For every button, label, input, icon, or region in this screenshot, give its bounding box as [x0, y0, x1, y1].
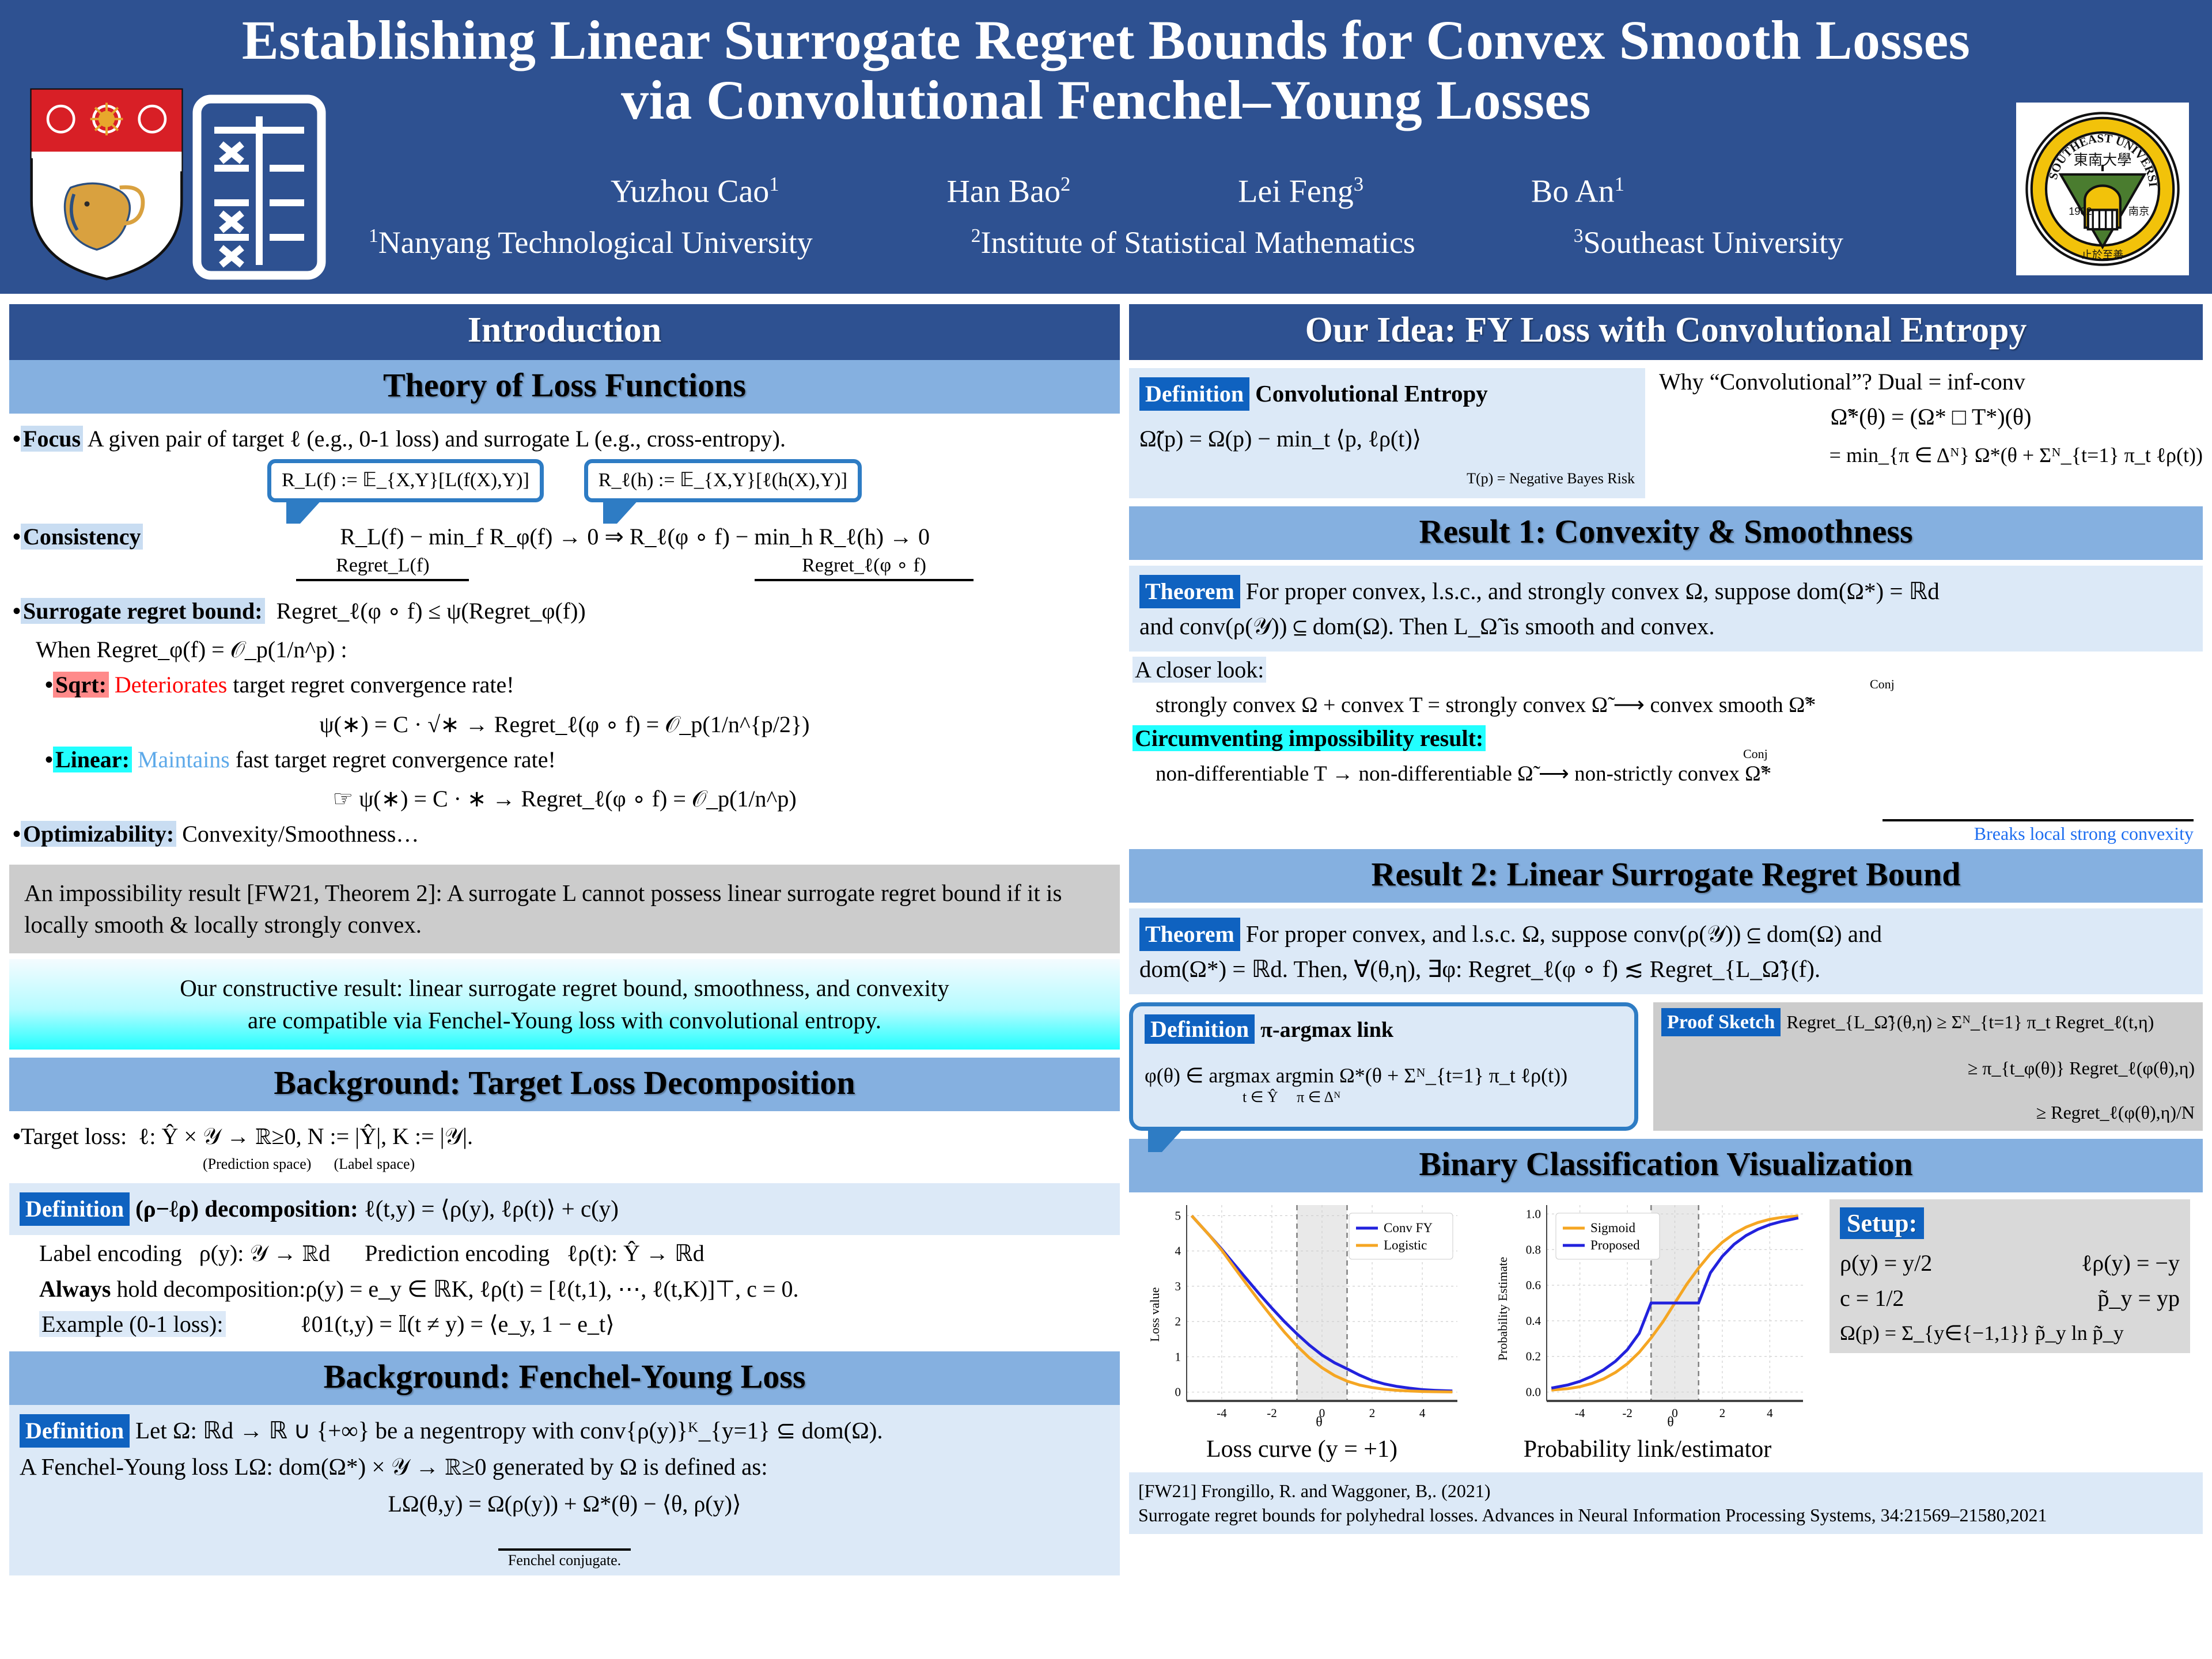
- definition-tag: Definition: [20, 1192, 130, 1226]
- setup-tag: Setup:: [1840, 1207, 1924, 1239]
- convolutional-entropy-definition-box: DefinitionConvolutional Entropy Ω̃(p) = …: [1129, 368, 1645, 498]
- example-row: Example (0-1 loss): ℓ01(t,y) = 𝕀(t ≠ y) …: [39, 1309, 1116, 1340]
- why-convolutional-label: Why “Convolutional”? Dual = inf-conv: [1659, 368, 2203, 395]
- setup-row-1: ρ(y) = y/2 ℓρ(y) = −y: [1840, 1249, 2180, 1277]
- decomposition-title: (ρ−ℓρ) decomposition:: [135, 1195, 358, 1222]
- argmax-sub-pi: π ∈ Δᴺ: [1297, 1089, 1340, 1105]
- linear-equation: ☞ ψ(∗) = C · ∗ → Regret_ℓ(φ ∘ f) = 𝒪_p(1…: [13, 784, 1116, 815]
- setup-py: p̃_y = yp: [2097, 1285, 2180, 1312]
- closer-look-label: A closer look:: [1132, 657, 1266, 683]
- author-3: Lei Feng3: [1238, 173, 1363, 210]
- section-heading-binary-classification-visualization: Binary Classification Visualization: [1129, 1139, 2203, 1192]
- ntu-logo: [23, 86, 190, 282]
- southeast-university-logo: SOUTHEAST UNIVERSITY 1902 南京 東南大學 止於至善: [2016, 103, 2189, 275]
- reference-line-1: [FW21] Frongillo, R. and Waggoner, B,. (…: [1138, 1479, 2194, 1503]
- theorem-1-line-1: For proper convex, l.s.c., and strongly …: [1246, 578, 1940, 604]
- affiliation-1: 1Nanyang Technological University: [369, 225, 813, 260]
- closer-look-equation: Conj strongly convex Ω + convex T = stro…: [1156, 691, 2199, 719]
- affiliation-2: 2Institute of Statistical Mathematics: [971, 225, 1415, 260]
- when-line: When Regret_φ(f) = 𝒪_p(1/n^p) :: [36, 635, 1116, 665]
- svg-text:1: 1: [1175, 1350, 1181, 1363]
- section-heading-introduction: Introduction: [9, 304, 1120, 360]
- chart-loss-curve: -4-2024012345 Conv FYLogistic Loss value…: [1129, 1199, 1475, 1463]
- svg-text:4: 4: [1175, 1244, 1181, 1258]
- poster-root: Establishing Linear Surrogate Regret Bou…: [0, 0, 2212, 1659]
- prediction-space-note: (Prediction space): [203, 1156, 311, 1172]
- poster-header: Establishing Linear Surrogate Regret Bou…: [0, 0, 2212, 294]
- theorem-2-line-2: dom(Ω*) = ℝd. Then, ∀(θ,η), ∃φ: Regret_ℓ…: [1139, 953, 2192, 985]
- surrogate-regret-bound-bullet: Surrogate regret bound: Regret_ℓ(φ ∘ f) …: [13, 596, 1116, 627]
- constructive-line-2: are compatible via Fenchel-Young loss wi…: [24, 1004, 1105, 1037]
- subsection-heading-target-loss-decomposition: Background: Target Loss Decomposition: [9, 1058, 1120, 1111]
- svg-text:Sigmoid: Sigmoid: [1590, 1221, 1635, 1235]
- constructive-line-1: Our constructive result: linear surrogat…: [24, 972, 1105, 1005]
- seu-cn-name: 東南大學: [2074, 152, 2132, 168]
- optimizability-bullet: Optimizability: Convexity/Smoothness…: [13, 819, 1116, 850]
- subsection-heading-fenchel-young-loss: Background: Fenchel-Young Loss: [9, 1351, 1120, 1405]
- label-encoding-eq: ρ(y): 𝒴 → ℝd: [199, 1240, 330, 1266]
- target-loss-bullet: Target loss: ℓ: Ŷ × 𝒴 → ℝ≥0, N := |Ŷ|, K…: [13, 1122, 1116, 1152]
- svg-text:Logistic: Logistic: [1384, 1238, 1427, 1252]
- svg-text:0: 0: [1175, 1385, 1181, 1399]
- svg-text:0.2: 0.2: [1526, 1350, 1541, 1363]
- title-line-2: via Convolutional Fenchel–Young Losses: [69, 70, 2143, 130]
- consistency-brace-2: Regret_ℓ(φ ∘ f): [755, 553, 974, 581]
- consistency-row: Consistency R_L(f) − min_f R_φ(f) → 0 ⇒ …: [13, 522, 1116, 582]
- always-row: Always hold decomposition:ρ(y) = e_y ∈ ℝ…: [39, 1274, 1116, 1305]
- always-equation: ρ(y) = e_y ∈ ℝK, ℓρ(t) = [ℓ(t,1), ⋯, ℓ(t…: [305, 1276, 798, 1302]
- chart-1-caption: Loss curve (y = +1): [1129, 1435, 1475, 1463]
- fenchel-young-definition-box: DefinitionLet Ω: ℝd → ℝ ∪ {+∞} be a nege…: [9, 1405, 1120, 1575]
- page-title: Establishing Linear Surrogate Regret Bou…: [69, 10, 2143, 130]
- svg-text:Proposed: Proposed: [1590, 1238, 1640, 1252]
- author-list: Yuzhou Cao1 Han Bao2 Lei Feng3 Bo An1: [611, 173, 1624, 210]
- subsection-heading-theory-of-loss-functions: Theory of Loss Functions: [9, 360, 1120, 414]
- affiliation-3: 3Southeast University: [1574, 225, 1843, 260]
- svg-text:0.4: 0.4: [1526, 1314, 1541, 1328]
- seu-city: 南京: [2128, 206, 2149, 217]
- consistency-brace-1: Regret_L(f): [296, 553, 469, 581]
- dual-equation-1: Ω̃*(θ) = (Ω* □ T*)(θ): [1659, 403, 2203, 430]
- definition-tag-conv: Definition: [1139, 377, 1249, 411]
- proof-sketch-box: Proof SketchRegret_{L_Ω̃}(θ,η) ≥ Σᴺ_{t=1…: [1653, 1002, 2203, 1131]
- label-encoding-label: Label encoding: [39, 1240, 182, 1266]
- example-tag: Example (0-1 loss):: [39, 1311, 226, 1337]
- svg-text:-2: -2: [1267, 1406, 1277, 1420]
- svg-text:2: 2: [1175, 1315, 1181, 1328]
- idea-row: DefinitionConvolutional Entropy Ω̃(p) = …: [1129, 368, 2203, 498]
- proof-line-2: ≥ π_{t_φ(θ)} Regret_ℓ(φ(θ),η): [1661, 1056, 2195, 1081]
- consistency-bullet: Consistency: [13, 522, 143, 552]
- fy-def-line-2: A Fenchel-Young loss LΩ: dom(Ω*) × 𝒴 → ℝ…: [20, 1451, 1109, 1483]
- svg-text:2: 2: [1369, 1406, 1376, 1420]
- proof-line-1: Regret_{L_Ω̃}(θ,η) ≥ Σᴺ_{t=1} π_t Regret…: [1786, 1012, 2154, 1032]
- svg-text:-4: -4: [1217, 1406, 1227, 1420]
- risk-callout-surrogate: R_L(f) := 𝔼_{X,Y}[L(f(X),Y)]: [267, 459, 544, 502]
- theorem-1-box: TheoremFor proper convex, l.s.c., and st…: [1129, 566, 2203, 652]
- svg-text:4: 4: [1767, 1406, 1773, 1420]
- setup-omega: Ω(p) = Σ_{y∈{−1,1}} p̃_y ln p̃_y: [1840, 1321, 2180, 1345]
- argmax-link-definition-box: Definitionπ-argmax link φ(θ) ∈ argmax ar…: [1129, 1002, 1638, 1131]
- theorem-tag-2: Theorem: [1139, 918, 1240, 951]
- affiliation-list: 1Nanyang Technological University 2Insti…: [369, 225, 1843, 260]
- section-heading-result-1: Result 1: Convexity & Smoothness: [1129, 506, 2203, 560]
- result2-detail-row: Definitionπ-argmax link φ(θ) ∈ argmax ar…: [1129, 1002, 2203, 1131]
- theorem-tag-1: Theorem: [1139, 575, 1240, 608]
- theorem-2-line-1: For proper convex, and l.s.c. Ω, suppose…: [1246, 921, 1882, 947]
- chart-2-caption: Probability link/estimator: [1475, 1435, 1820, 1463]
- example-equation: ℓ01(t,y) = 𝕀(t ≠ y) = ⟨e_y, 1 − e_t⟩: [301, 1311, 615, 1337]
- fy-equation: LΩ(θ,y) = Ω(ρ(y)) + Ω*(θ) − ⟨θ, ρ(y)⟩: [20, 1488, 1109, 1520]
- consistency-equation: R_L(f) − min_f R_φ(f) → 0 ⇒ R_ℓ(φ ∘ f) −…: [153, 522, 1116, 552]
- conj-arrow-label-2: Conj: [1743, 745, 1768, 762]
- title-line-1: Establishing Linear Surrogate Regret Bou…: [69, 10, 2143, 70]
- section-heading-result-2: Result 2: Linear Surrogate Regret Bound: [1129, 849, 2203, 903]
- impossibility-result-box: An impossibility result [FW21, Theorem 2…: [9, 865, 1120, 953]
- left-column: Introduction Theory of Loss Functions Fo…: [9, 304, 1120, 1575]
- closer-look-block: A closer look: Conj strongly convex Ω + …: [1129, 652, 2203, 724]
- dual-equation-2: = min_{π ∈ Δᴺ} Ω*(θ + Σᴺ_{t=1} π_t ℓρ(t)…: [1659, 443, 2203, 467]
- svg-text:0.8: 0.8: [1526, 1243, 1541, 1256]
- decomposition-definition-box: Definition(ρ−ℓρ) decomposition: ℓ(t,y) =…: [9, 1183, 1120, 1235]
- section-heading-our-idea: Our Idea: FY Loss with Convolutional Ent…: [1129, 304, 2203, 360]
- prediction-encoding-label: Prediction encoding: [365, 1240, 550, 1266]
- chart-1-plot-area: -4-2024012345 Conv FYLogistic Loss value…: [1146, 1199, 1469, 1430]
- seu-motto: 止於至善: [2082, 249, 2124, 260]
- chart-probability-link: -4-20240.00.20.40.60.81.0 SigmoidPropose…: [1475, 1199, 1820, 1463]
- argmax-equation: φ(θ) ∈ argmax argmin Ω*(θ + Σᴺ_{t=1} π_t…: [1145, 1063, 1623, 1088]
- fy-def-line-1: Let Ω: ℝd → ℝ ∪ {+∞} be a negentropy wit…: [135, 1417, 883, 1444]
- space-notes: (Prediction space) (Label space): [203, 1154, 1116, 1174]
- author-4: Bo An1: [1531, 173, 1624, 210]
- circumvent-block: Circumventing impossibility result: Conj…: [1129, 724, 2203, 850]
- label-space-note: (Label space): [334, 1156, 415, 1172]
- setup-c: c = 1/2: [1840, 1285, 1904, 1312]
- argmax-subscripts: t ∈ Ŷ π ∈ Δᴺ: [1243, 1089, 1623, 1106]
- chart-2-xlabel: θ: [1667, 1415, 1674, 1430]
- svg-text:-4: -4: [1575, 1406, 1585, 1420]
- sqrt-equation: ψ(∗) = C · √∗ → Regret_ℓ(φ ∘ f) = 𝒪_p(1/…: [13, 710, 1116, 740]
- prediction-encoding-eq: ℓρ(t): Ŷ → ℝd: [567, 1240, 704, 1266]
- svg-text:Conv FY: Conv FY: [1384, 1221, 1433, 1235]
- always-label: Always: [39, 1276, 111, 1302]
- chart-2-ylabel: Probability Estimate: [1495, 1257, 1510, 1361]
- conj-arrow-label-1: Conj: [1870, 676, 1895, 692]
- theorem-2-box: TheoremFor proper convex, and l.s.c. Ω, …: [1129, 908, 2203, 994]
- convolutional-entropy-equation: Ω̃(p) = Ω(p) − min_t ⟨p, ℓρ(t)⟩: [1139, 423, 1635, 454]
- fenchel-conjugate-note: Fenchel conjugate.: [20, 1551, 1109, 1571]
- decomposition-equation: ℓ(t,y) = ⟨ρ(y), ℓρ(t)⟩ + c(y): [364, 1195, 619, 1222]
- convolutional-entropy-title: Convolutional Entropy: [1255, 380, 1488, 407]
- argmax-sub-t: t ∈ Ŷ: [1243, 1089, 1278, 1105]
- right-column: Our Idea: FY Loss with Convolutional Ent…: [1129, 304, 2203, 1534]
- constructive-result-box: Our constructive result: linear surrogat…: [9, 959, 1120, 1050]
- breaks-strong-convexity-note: Breaks local strong convexity: [1132, 789, 2199, 846]
- encoding-row: Label encoding ρ(y): 𝒴 → ℝd Prediction e…: [39, 1238, 1116, 1269]
- svg-text:3: 3: [1175, 1279, 1181, 1293]
- risk-callouts: R_L(f) := 𝔼_{X,Y}[L(f(X),Y)] R_ℓ(h) := 𝔼…: [13, 459, 1116, 502]
- fenchel-conjugate-brace: [20, 1517, 1109, 1551]
- setup-lrho: ℓρ(y) = −y: [2081, 1249, 2180, 1277]
- chart-1-ylabel: Loss value: [1147, 1287, 1162, 1342]
- theorem-1-line-2: and conv(ρ(𝒴)) ⊆ dom(Ω). Then L_Ω̃ is sm…: [1139, 611, 2192, 642]
- introduction-body: Focus A given pair of target ℓ (e.g., 0-…: [9, 414, 1120, 855]
- chart-2-plot-area: -4-20240.00.20.40.60.81.0 SigmoidPropose…: [1492, 1199, 1815, 1430]
- svg-text:-2: -2: [1622, 1406, 1633, 1420]
- setup-row-2: c = 1/2 p̃_y = yp: [1840, 1285, 2180, 1312]
- thumbs-up-icon: ☞: [332, 786, 353, 812]
- seu-year: 1902: [2069, 206, 2092, 217]
- references-box: [FW21] Frongillo, R. and Waggoner, B,. (…: [1129, 1472, 2203, 1534]
- visualization-row: -4-2024012345 Conv FYLogistic Loss value…: [1129, 1199, 2203, 1463]
- focus-bullet: Focus A given pair of target ℓ (e.g., 0-…: [13, 424, 1116, 454]
- risk-callout-target: R_ℓ(h) := 𝔼_{X,Y}[ℓ(h(X),Y)]: [584, 459, 862, 502]
- author-1: Yuzhou Cao1: [611, 173, 779, 210]
- definition-tag-argmax: Definition: [1145, 1014, 1255, 1044]
- chart-1-xlabel: θ: [1316, 1415, 1323, 1430]
- encoding-body: Label encoding ρ(y): 𝒴 → ℝd Prediction e…: [9, 1235, 1120, 1343]
- target-loss-body: Target loss: ℓ: Ŷ × 𝒴 → ℝ≥0, N := |Ŷ|, K…: [9, 1111, 1120, 1177]
- definition-tag-fy: Definition: [20, 1414, 130, 1448]
- reference-line-2: Surrogate regret bounds for polyhedral l…: [1138, 1503, 2194, 1528]
- circumvent-equation: Conj non-differentiable T → non-differen…: [1156, 760, 2199, 789]
- svg-text:4: 4: [1419, 1406, 1426, 1420]
- svg-text:0.6: 0.6: [1526, 1278, 1541, 1292]
- sqrt-bullet: Sqrt: Deteriorates target regret converg…: [45, 670, 1116, 700]
- circumventing-label: Circumventing impossibility result:: [1132, 725, 1486, 751]
- proof-line-3: ≥ Regret_ℓ(φ(θ),η)/N: [1661, 1100, 2195, 1125]
- negative-bayes-risk-note: T(p) = Negative Bayes Risk: [1139, 469, 1635, 489]
- svg-text:5: 5: [1175, 1209, 1181, 1222]
- svg-text:2: 2: [1719, 1406, 1726, 1420]
- linear-bullet: Linear: Maintains fast target regret con…: [45, 745, 1116, 775]
- setup-box: Setup: ρ(y) = y/2 ℓρ(y) = −y c = 1/2 p̃_…: [1830, 1199, 2190, 1353]
- author-2: Han Bao2: [946, 173, 1070, 210]
- dual-inf-conv-block: Why “Convolutional”? Dual = inf-conv Ω̃*…: [1659, 368, 2203, 498]
- svg-text:1.0: 1.0: [1526, 1207, 1541, 1221]
- proof-sketch-tag: Proof Sketch: [1661, 1008, 1781, 1037]
- argmax-link-title: π-argmax link: [1260, 1018, 1393, 1042]
- tongji-logo: [190, 92, 328, 282]
- svg-text:0.0: 0.0: [1526, 1385, 1541, 1399]
- setup-rho: ρ(y) = y/2: [1840, 1249, 1932, 1277]
